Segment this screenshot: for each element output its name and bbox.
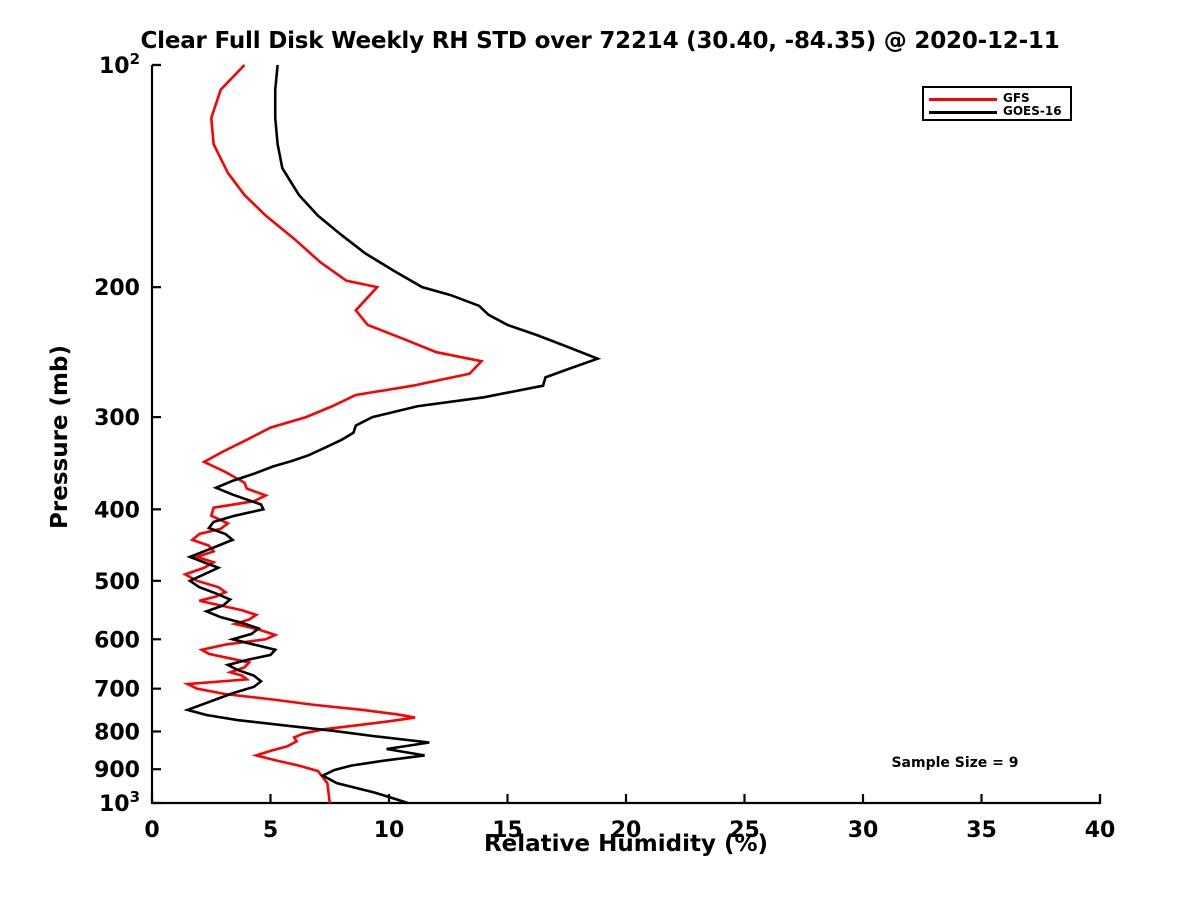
y-tick-label: 200 (94, 276, 140, 301)
sample-size-annotation: Sample Size = 9 (830, 755, 1080, 771)
y-tick-label: 800 (94, 720, 140, 745)
series-group (185, 65, 597, 803)
y-tick-label: 700 (94, 678, 140, 703)
y-tick-label: 900 (94, 758, 140, 783)
legend-label-goes16: GOES-16 (1003, 104, 1062, 118)
x-axis-label: Relative Humidity (%) (152, 831, 1100, 857)
y-tick-label: 102 (99, 50, 140, 79)
legend-label-gfs: GFS (1003, 91, 1030, 105)
legend: GFS GOES-16 (922, 86, 1072, 121)
legend-swatch-goes16 (929, 111, 997, 114)
y-axis-label: Pressure (mb) (47, 272, 73, 602)
y-tick-label: 400 (94, 498, 140, 523)
series-line-goes-16 (188, 65, 598, 803)
y-tick-label: 300 (94, 406, 140, 431)
chart-figure: Clear Full Disk Weekly RH STD over 72214… (0, 0, 1200, 900)
axes-group: 0510152025303540102200300400500600700800… (94, 50, 1115, 843)
series-line-gfs (185, 65, 481, 803)
legend-swatch-gfs (929, 98, 997, 101)
y-tick-label: 103 (99, 788, 140, 817)
y-tick-label: 600 (94, 628, 140, 653)
y-tick-label: 500 (94, 570, 140, 595)
legend-item-goes16: GOES-16 (929, 105, 1069, 120)
